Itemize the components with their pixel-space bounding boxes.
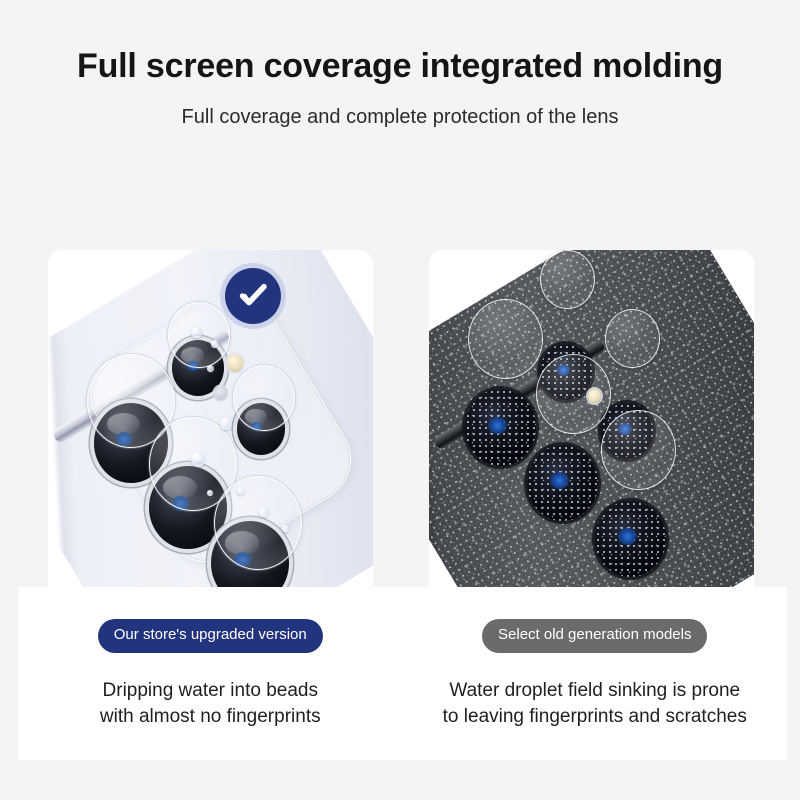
separate-glass-ring bbox=[601, 410, 676, 490]
camera-lens bbox=[465, 389, 537, 466]
water-droplet bbox=[211, 340, 218, 348]
separate-glass-ring bbox=[540, 250, 595, 309]
water-droplet bbox=[237, 487, 245, 495]
page-header: Full screen coverage integrated molding … bbox=[0, 0, 800, 129]
lens-protector-comparison-page: { "header": { "headline": "Full screen c… bbox=[0, 0, 800, 800]
water-droplet bbox=[220, 417, 232, 430]
good-product-photo bbox=[48, 250, 373, 598]
camera-lens bbox=[527, 445, 599, 522]
separate-glass-ring bbox=[605, 309, 660, 368]
glass-lens-ring bbox=[233, 365, 295, 431]
good-product-photo-panel bbox=[48, 250, 373, 598]
caption-card: Our store's upgraded version Dripping wa… bbox=[18, 587, 787, 760]
water-droplet bbox=[282, 525, 289, 532]
good-caption-column: Our store's upgraded version Dripping wa… bbox=[18, 587, 403, 760]
camera-lens bbox=[595, 501, 667, 578]
page-subtitle: Full coverage and complete protection of… bbox=[0, 105, 800, 129]
page-title: Full screen coverage integrated molding bbox=[0, 48, 800, 85]
check-icon bbox=[236, 279, 270, 313]
good-product-pill: Our store's upgraded version bbox=[98, 619, 323, 653]
glass-lens-ring bbox=[214, 476, 302, 570]
camera-flash bbox=[227, 354, 243, 371]
bad-product-photo bbox=[429, 250, 754, 598]
camera-sensor bbox=[214, 386, 227, 400]
bad-caption-column: Select old generation models Water dropl… bbox=[403, 587, 788, 760]
bad-product-pill: Select old generation models bbox=[482, 619, 707, 653]
bad-product-caption: Water droplet field sinking is prone to … bbox=[443, 678, 747, 732]
water-droplet bbox=[207, 365, 214, 372]
comparison-stage bbox=[0, 210, 800, 610]
good-product-caption: Dripping water into beads with almost no… bbox=[100, 678, 321, 732]
bad-product-photo-panel bbox=[429, 250, 754, 598]
check-badge bbox=[225, 268, 281, 324]
separate-glass-ring bbox=[468, 299, 543, 379]
